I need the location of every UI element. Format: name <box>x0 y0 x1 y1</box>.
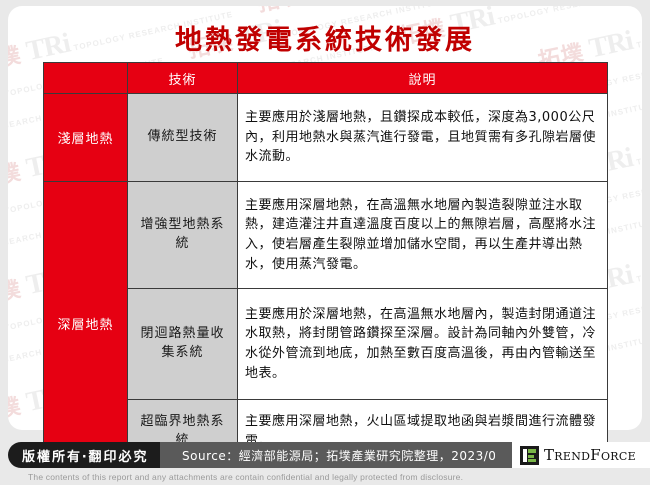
brand-logo: TrendForce <box>512 442 650 468</box>
technology-cell: 傳統型技術 <box>128 94 238 182</box>
column-header-category <box>44 63 128 94</box>
disclaimer-text: The contents of this report and any atta… <box>28 472 628 482</box>
technology-cell: 閉迴路熱量收集系統 <box>128 289 238 400</box>
description-cell: 主要應用於深層地熱，在高溫無水地層內，製造封閉通道注水取熱，將封閉管路鑽探至深層… <box>238 289 608 400</box>
copyright-badge: 版權所有‧翻印必究 <box>8 442 175 468</box>
page-title: 地熱發電系統技術發展 <box>0 18 650 57</box>
column-header-technology: 技術 <box>128 63 238 94</box>
column-header-description: 說明 <box>238 63 608 94</box>
technology-cell: 增強型地熱系統 <box>128 182 238 289</box>
brand-name: TrendForce <box>544 446 636 464</box>
description-cell: 主要應用於淺層地熱，且鑽探成本較低，深度為3,000公尺內，利用地熱水與蒸汽進行… <box>238 94 608 182</box>
category-cell-deep: 深層地熱 <box>44 182 128 465</box>
technology-table: 技術 說明 淺層地熱 傳統型技術 主要應用於淺層地熱，且鑽探成本較低，深度為3,… <box>43 62 607 465</box>
table-row: 閉迴路熱量收集系統 主要應用於深層地熱，在高溫無水地層內，製造封閉通道注水取熱，… <box>44 289 608 400</box>
trendforce-logo-icon <box>520 446 539 465</box>
category-cell-shallow: 淺層地熱 <box>44 94 128 182</box>
slide-page: 拓墣 TRi TOPOLOGY RESEARCH INSTITUTE拓墣 TRi… <box>0 0 650 485</box>
table-row: 深層地熱 增強型地熱系統 主要應用深層地熱，在高溫無水地層內製造裂隙並注水取熱，… <box>44 182 608 289</box>
source-text: Source：經濟部能源局；拓墣產業研究院整理，2023/07 <box>160 442 527 468</box>
footer-bar: 版權所有‧翻印必究 Source：經濟部能源局；拓墣產業研究院整理，2023/0… <box>0 440 650 485</box>
description-cell: 主要應用深層地熱，在高溫無水地層內製造裂隙並注水取熱，建造灌注井直達溫度百度以上… <box>238 182 608 289</box>
table-header-row: 技術 說明 <box>44 63 608 94</box>
table-row: 淺層地熱 傳統型技術 主要應用於淺層地熱，且鑽探成本較低，深度為3,000公尺內… <box>44 94 608 182</box>
